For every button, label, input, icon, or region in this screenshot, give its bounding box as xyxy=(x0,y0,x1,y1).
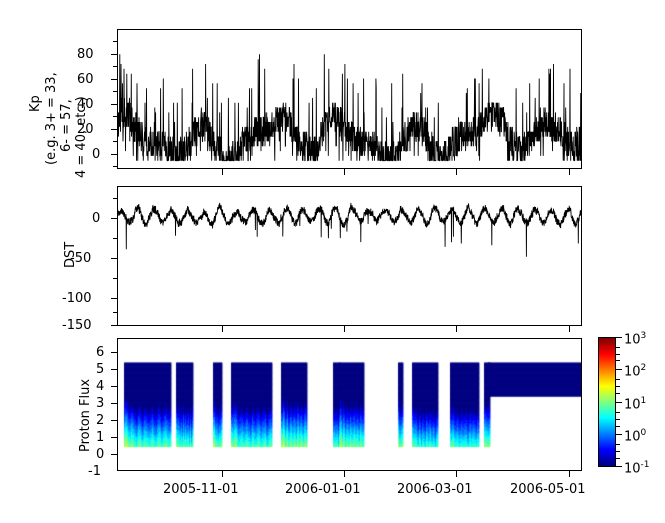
colorbar-tick-label-1em1: 10-1 xyxy=(624,459,650,475)
kp-ytick-label-80: 80 xyxy=(77,48,94,61)
colorbar-exp-0: 0 xyxy=(641,428,647,438)
xtick-label-2006-03-01: 2006-03-01 xyxy=(397,483,473,496)
dst-ytick-label-minus100: -100 xyxy=(62,292,92,305)
colorbar-exp-2: 2 xyxy=(641,363,647,373)
xtick-label-2005-11-01: 2005-11-01 xyxy=(163,483,239,496)
colorbar-exp-minus1: -1 xyxy=(641,460,650,470)
colorbar xyxy=(598,337,616,467)
kp-series-plot xyxy=(118,30,581,168)
colorbar-gradient xyxy=(599,338,615,466)
pf-ytick-label-3: 3 xyxy=(96,397,104,410)
colorbar-tick-label-1e3: 103 xyxy=(624,330,646,346)
proton-flux-ylabel: Proton Flux xyxy=(78,379,93,452)
pf-ytick-label-0: 0 xyxy=(96,448,104,461)
pf-ytick-label-6: 6 xyxy=(96,346,104,359)
proton-flux-heatmap xyxy=(118,339,581,470)
kp-ytick-label-20: 20 xyxy=(77,123,94,136)
kp-ytick-label-0: 0 xyxy=(92,148,100,161)
dst-ytick-label-minus50: -50 xyxy=(70,252,91,265)
pf-ytick-label-minus1: -1 xyxy=(88,465,101,478)
pf-ytick-label-4: 4 xyxy=(96,380,104,393)
dst-series-plot xyxy=(118,187,581,325)
figure-canvas: Kp (e.g. 3+ = 33, 6- = 57, 4 = 40, etc.)… xyxy=(0,0,665,523)
colorbar-exp-1: 1 xyxy=(641,396,647,406)
colorbar-exp-3: 3 xyxy=(641,331,647,341)
pf-ytick-label-2: 2 xyxy=(96,414,104,427)
dst-plot-panel xyxy=(117,186,582,326)
colorbar-tick-label-1e1: 101 xyxy=(624,395,646,411)
dst-ytick-label-minus150: -150 xyxy=(62,319,92,332)
colorbar-tick-label-1e2: 102 xyxy=(624,362,646,378)
kp-ylabel-line3: 6- = 57, xyxy=(59,99,74,152)
kp-ytick-label-60: 60 xyxy=(77,73,94,86)
colorbar-tick-label-1e0: 100 xyxy=(624,427,646,443)
pf-ytick-label-5: 5 xyxy=(96,363,104,376)
kp-plot-panel xyxy=(117,29,582,169)
kp-ylabel-line1: Kp xyxy=(28,95,43,112)
xtick-label-2006-05-01: 2006-05-01 xyxy=(510,483,586,496)
proton-flux-plot-panel xyxy=(117,338,582,471)
kp-ytick-label-40: 40 xyxy=(77,98,94,111)
pf-ytick-label-1: 1 xyxy=(96,431,104,444)
kp-ylabel-line2: (e.g. 3+ = 33, xyxy=(44,72,59,165)
xtick-label-2006-01-01: 2006-01-01 xyxy=(285,483,361,496)
dst-ytick-label-0: 0 xyxy=(92,212,100,225)
